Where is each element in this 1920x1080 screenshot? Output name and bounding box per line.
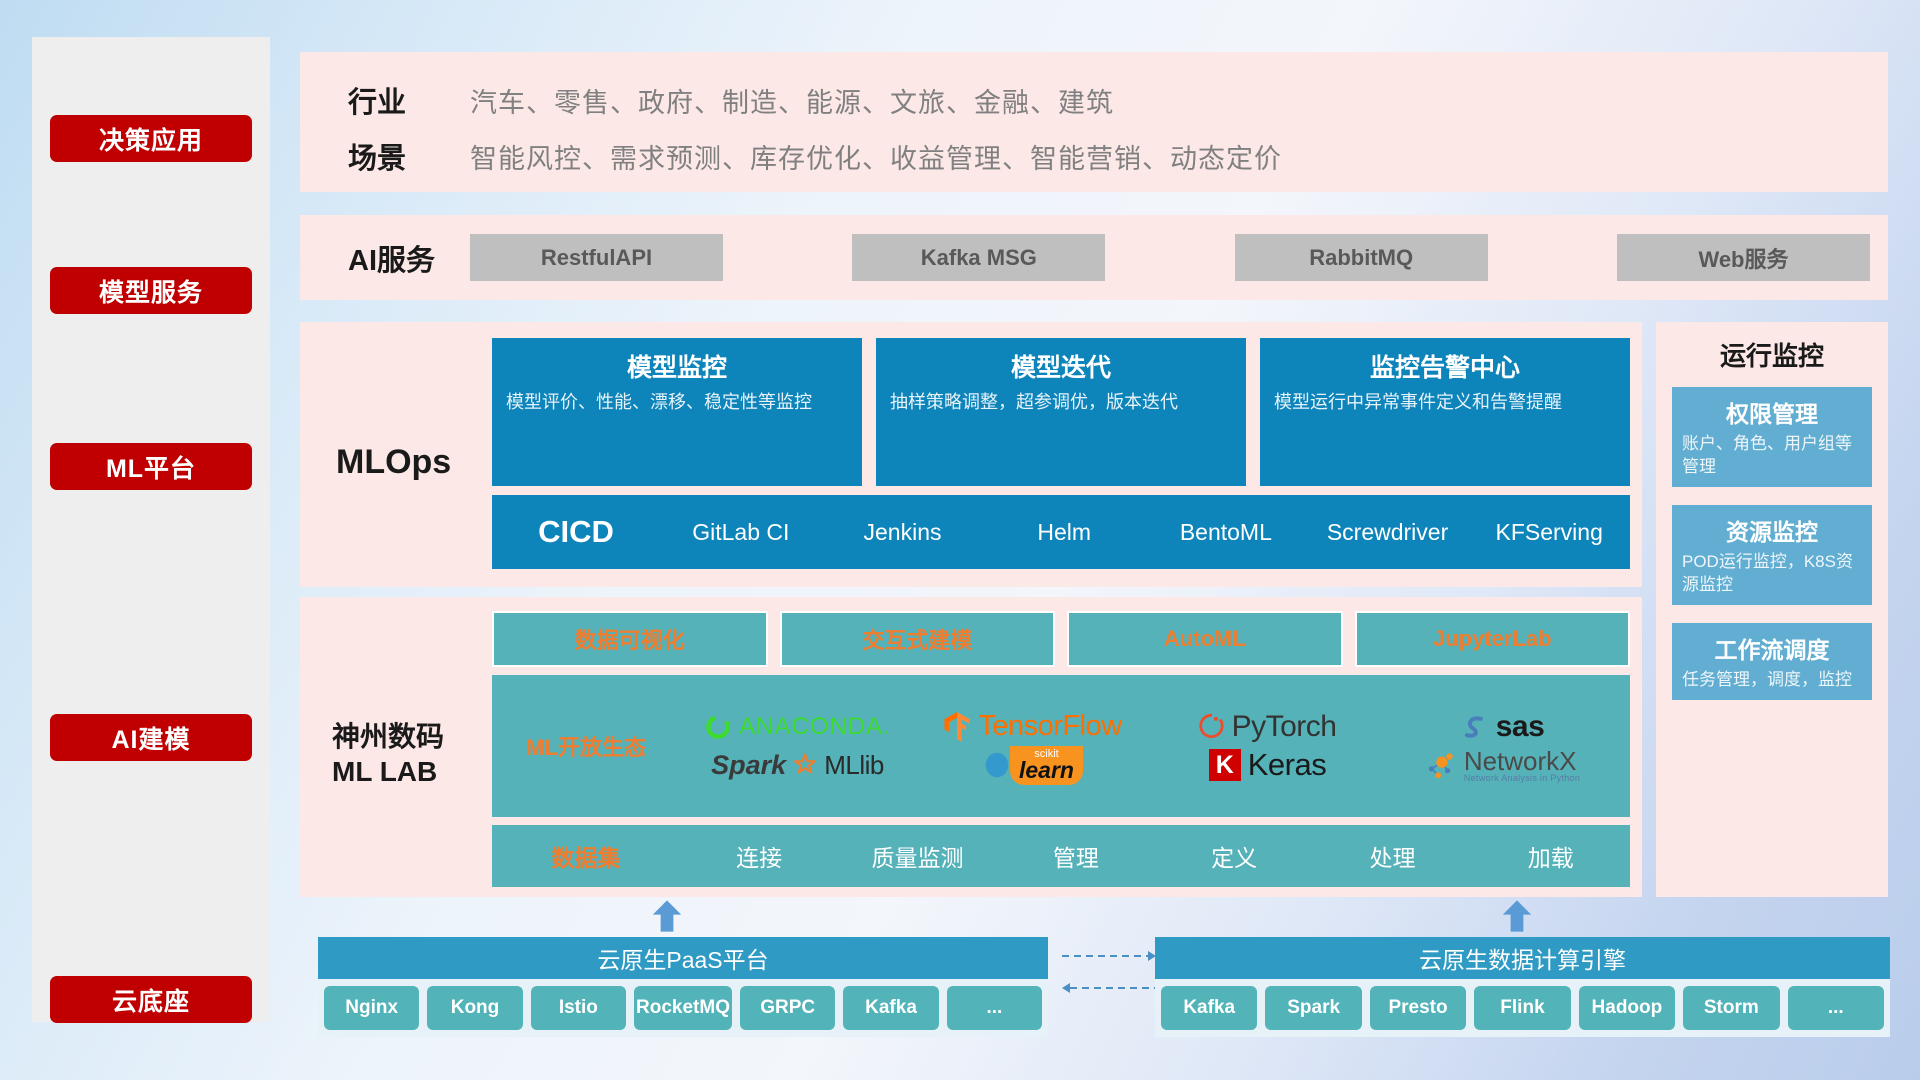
anaconda-icon — [704, 713, 732, 741]
scenario-label: 场景 — [320, 135, 470, 177]
card-title: 工作流调度 — [1682, 631, 1862, 665]
runtime-monitoring-title: 运行监控 — [1672, 336, 1872, 373]
modeling-tool-row: 数据可视化 交互式建模 AutoML JupyterLab — [492, 611, 1630, 667]
industry-values: 汽车、零售、政府、制造、能源、文旅、金融、建筑 — [470, 81, 1114, 120]
mlops-card-alert-center[interactable]: 监控告警中心 模型运行中异常事件定义和告警提醒 — [1260, 338, 1630, 486]
up-arrow-icon-paas — [650, 899, 684, 933]
ml-ecosystem-row: ML开放生态 ANACONDA. TensorFlow — [492, 675, 1630, 817]
networkx-logo: NetworkX Network Analysis in Python — [1425, 748, 1580, 783]
cicd-item-kfserving[interactable]: KFServing — [1468, 521, 1630, 544]
paas-chip-kong[interactable]: Kong — [427, 986, 522, 1030]
scenario-row: 场景 智能风控、需求预测、库存优化、收益管理、智能营销、动态定价 — [320, 128, 1888, 184]
networkx-tagline: Network Analysis in Python — [1464, 774, 1580, 783]
engine-chip-kafka[interactable]: Kafka — [1161, 986, 1257, 1030]
tool-data-visualization[interactable]: 数据可视化 — [492, 611, 768, 667]
layer-chip-model-service[interactable]: 模型服务 — [50, 267, 252, 314]
card-title: 资源监控 — [1682, 513, 1862, 547]
dataset-item-connect[interactable]: 连接 — [680, 839, 838, 873]
cloud-native-data-engine-group: 云原生数据计算引擎 Kafka Spark Presto Flink Hadoo… — [1155, 937, 1890, 1037]
cloud-base-band: 云原生PaaS平台 Nginx Kong Istio RocketMQ GRPC… — [300, 917, 1888, 1022]
keras-logo: K Keras — [1209, 747, 1326, 783]
industry-label: 行业 — [320, 79, 470, 121]
layer-chip-cloud-base[interactable]: 云底座 — [50, 976, 252, 1023]
card-title: 权限管理 — [1682, 395, 1862, 429]
paas-chip-istio[interactable]: Istio — [531, 986, 626, 1030]
tool-automl[interactable]: AutoML — [1067, 611, 1343, 667]
layer-chip-label: 云底座 — [112, 982, 190, 1018]
cicd-item-jenkins[interactable]: Jenkins — [822, 521, 984, 544]
monitor-card-permission-management[interactable]: 权限管理 账户、角色、用户组等管理 — [1672, 387, 1872, 487]
mlops-card-row: 模型监控 模型评价、性能、漂移、稳定性等监控 模型迭代 抽样策略调整，超参调优，… — [492, 338, 1630, 486]
runtime-monitoring-rail: 运行监控 权限管理 账户、角色、用户组等管理 资源监控 POD运行监控，K8S资… — [1656, 322, 1888, 897]
paas-chip-more[interactable]: ... — [947, 986, 1042, 1030]
tool-interactive-modeling[interactable]: 交互式建模 — [780, 611, 1056, 667]
engine-chip-row: Kafka Spark Presto Flink Hadoop Storm ..… — [1155, 979, 1890, 1037]
dataset-item-manage[interactable]: 管理 — [997, 839, 1155, 873]
engine-header: 云原生数据计算引擎 — [1155, 937, 1890, 979]
card-desc: 抽样策略调整，超参调优，版本迭代 — [890, 390, 1232, 414]
ai-services-band: AI服务 RestfulAPI Kafka MSG RabbitMQ Web服务 — [300, 215, 1888, 300]
cicd-bar: CICD GitLab CI Jenkins Helm BentoML Scre… — [492, 495, 1630, 569]
scikit-blob-icon — [982, 750, 1012, 780]
card-desc: 账户、角色、用户组等管理 — [1682, 433, 1862, 479]
paas-chip-nginx[interactable]: Nginx — [324, 986, 419, 1030]
card-title: 监控告警中心 — [1274, 348, 1616, 384]
ai-service-kafka-msg[interactable]: Kafka MSG — [852, 234, 1105, 281]
anaconda-logo-text: ANACONDA. — [739, 713, 891, 741]
card-desc: 模型评价、性能、漂移、稳定性等监控 — [506, 390, 848, 414]
cicd-item-gitlab-ci[interactable]: GitLab CI — [660, 521, 822, 544]
keras-logo-text: Keras — [1248, 747, 1326, 783]
ml-ecosystem-logo-grid: ANACONDA. TensorFlow — [680, 707, 1630, 785]
networkx-logo-text: NetworkX — [1464, 748, 1580, 774]
card-title: 模型监控 — [506, 348, 848, 384]
layer-chip-label: ML平台 — [106, 449, 196, 485]
sas-icon — [1461, 713, 1489, 741]
dataset-label: 数据集 — [492, 839, 680, 873]
paas-chip-rocketmq[interactable]: RocketMQ — [634, 986, 732, 1030]
layer-chip-ai-modeling[interactable]: AI建模 — [50, 714, 252, 761]
ai-services-label: AI服务 — [320, 237, 470, 279]
mlops-band: MLOps 模型监控 模型评价、性能、漂移、稳定性等监控 模型迭代 抽样策略调整… — [300, 322, 1642, 587]
cicd-item-bentoml[interactable]: BentoML — [1145, 521, 1307, 544]
card-desc: 任务管理，调度，监控 — [1682, 669, 1862, 692]
sas-logo: sas — [1461, 710, 1545, 744]
pytorch-logo: PyTorch — [1199, 710, 1337, 744]
layer-chip-decision-apps[interactable]: 决策应用 — [50, 115, 252, 162]
cicd-title: CICD — [492, 514, 660, 550]
cicd-item-screwdriver[interactable]: Screwdriver — [1307, 521, 1469, 544]
dataset-item-process[interactable]: 处理 — [1313, 839, 1471, 873]
ml-lab-label-line2: ML LAB — [332, 754, 444, 789]
tensorflow-icon — [943, 711, 971, 743]
monitor-card-resource-monitoring[interactable]: 资源监控 POD运行监控，K8S资源监控 — [1672, 505, 1872, 605]
mllib-logo-text: MLlib — [824, 750, 884, 781]
spark-logo-text: Spark — [711, 750, 786, 781]
monitor-card-workflow-scheduling[interactable]: 工作流调度 任务管理，调度，监控 — [1672, 623, 1872, 700]
paas-chip-grpc[interactable]: GRPC — [740, 986, 835, 1030]
layer-chip-label: AI建模 — [111, 720, 190, 756]
dataset-item-load[interactable]: 加载 — [1472, 839, 1630, 873]
dataset-row: 数据集 连接 质量监测 管理 定义 处理 加载 — [492, 825, 1630, 887]
engine-chip-hadoop[interactable]: Hadoop — [1579, 986, 1675, 1030]
paas-chip-kafka[interactable]: Kafka — [843, 986, 938, 1030]
learn-text: learn — [1019, 760, 1074, 782]
dataset-item-quality-monitoring[interactable]: 质量监测 — [838, 839, 996, 873]
scenario-values: 智能风控、需求预测、库存优化、收益管理、智能营销、动态定价 — [470, 137, 1282, 176]
pytorch-logo-text: PyTorch — [1232, 710, 1337, 744]
pytorch-icon — [1199, 712, 1225, 742]
layer-label-rail: 决策应用 模型服务 ML平台 AI建模 云底座 — [32, 37, 270, 1022]
paas-chip-row: Nginx Kong Istio RocketMQ GRPC Kafka ... — [318, 979, 1048, 1037]
scikit-learn-badge: scikit learn — [1010, 746, 1083, 785]
layer-chip-label: 模型服务 — [99, 273, 203, 309]
industry-row: 行业 汽车、零售、政府、制造、能源、文旅、金融、建筑 — [320, 72, 1888, 128]
bidirectional-dashed-link-icon — [1060, 947, 1158, 997]
dataset-item-define[interactable]: 定义 — [1155, 839, 1313, 873]
architecture-main-column: 行业 汽车、零售、政府、制造、能源、文旅、金融、建筑 场景 智能风控、需求预测、… — [300, 37, 1888, 1022]
spark-star-icon — [793, 753, 817, 777]
layer-chip-label: 决策应用 — [99, 121, 203, 157]
engine-chip-spark[interactable]: Spark — [1265, 986, 1361, 1030]
mlops-label: MLOps — [320, 338, 492, 587]
spark-mllib-logo: Spark MLlib — [711, 750, 884, 781]
engine-chip-flink[interactable]: Flink — [1474, 986, 1570, 1030]
card-title: 模型迭代 — [890, 348, 1232, 384]
layer-chip-ml-platform[interactable]: ML平台 — [50, 443, 252, 490]
mlops-card-model-monitoring[interactable]: 模型监控 模型评价、性能、漂移、稳定性等监控 — [492, 338, 862, 486]
scikit-learn-logo: scikit learn — [982, 746, 1083, 785]
ml-lab-label: 神州数码 ML LAB — [320, 611, 492, 897]
networkx-wordmark: NetworkX Network Analysis in Python — [1464, 748, 1580, 783]
ai-service-restfulapi[interactable]: RestfulAPI — [470, 234, 723, 281]
engine-chip-presto[interactable]: Presto — [1370, 986, 1466, 1030]
tensorflow-logo-text: TensorFlow — [978, 710, 1121, 743]
ai-modeling-band: 神州数码 ML LAB 数据可视化 交互式建模 AutoML JupyterLa… — [300, 597, 1642, 897]
card-desc: 模型运行中异常事件定义和告警提醒 — [1274, 390, 1616, 414]
up-arrow-icon-engine — [1500, 899, 1534, 933]
keras-k-icon: K — [1209, 749, 1241, 781]
ml-lab-label-line1: 神州数码 — [332, 719, 444, 754]
sas-logo-text: sas — [1496, 710, 1545, 744]
cloud-native-paas-group: 云原生PaaS平台 Nginx Kong Istio RocketMQ GRPC… — [318, 937, 1048, 1037]
ai-services-box-row: RestfulAPI Kafka MSG RabbitMQ Web服务 — [470, 234, 1888, 281]
industry-scenario-band: 行业 汽车、零售、政府、制造、能源、文旅、金融、建筑 场景 智能风控、需求预测、… — [300, 52, 1888, 192]
tensorflow-logo: TensorFlow — [943, 710, 1121, 743]
tool-jupyterlab[interactable]: JupyterLab — [1355, 611, 1631, 667]
engine-chip-storm[interactable]: Storm — [1683, 986, 1779, 1030]
networkx-graph-icon — [1425, 750, 1457, 780]
ai-service-web[interactable]: Web服务 — [1617, 234, 1870, 281]
ai-service-rabbitmq[interactable]: RabbitMQ — [1235, 234, 1488, 281]
card-desc: POD运行监控，K8S资源监控 — [1682, 551, 1862, 597]
cicd-item-helm[interactable]: Helm — [983, 521, 1145, 544]
engine-chip-more[interactable]: ... — [1788, 986, 1884, 1030]
anaconda-logo: ANACONDA. — [704, 713, 891, 741]
paas-header: 云原生PaaS平台 — [318, 937, 1048, 979]
ml-ecosystem-label: ML开放生态 — [492, 730, 680, 762]
mlops-card-model-iteration[interactable]: 模型迭代 抽样策略调整，超参调优，版本迭代 — [876, 338, 1246, 486]
